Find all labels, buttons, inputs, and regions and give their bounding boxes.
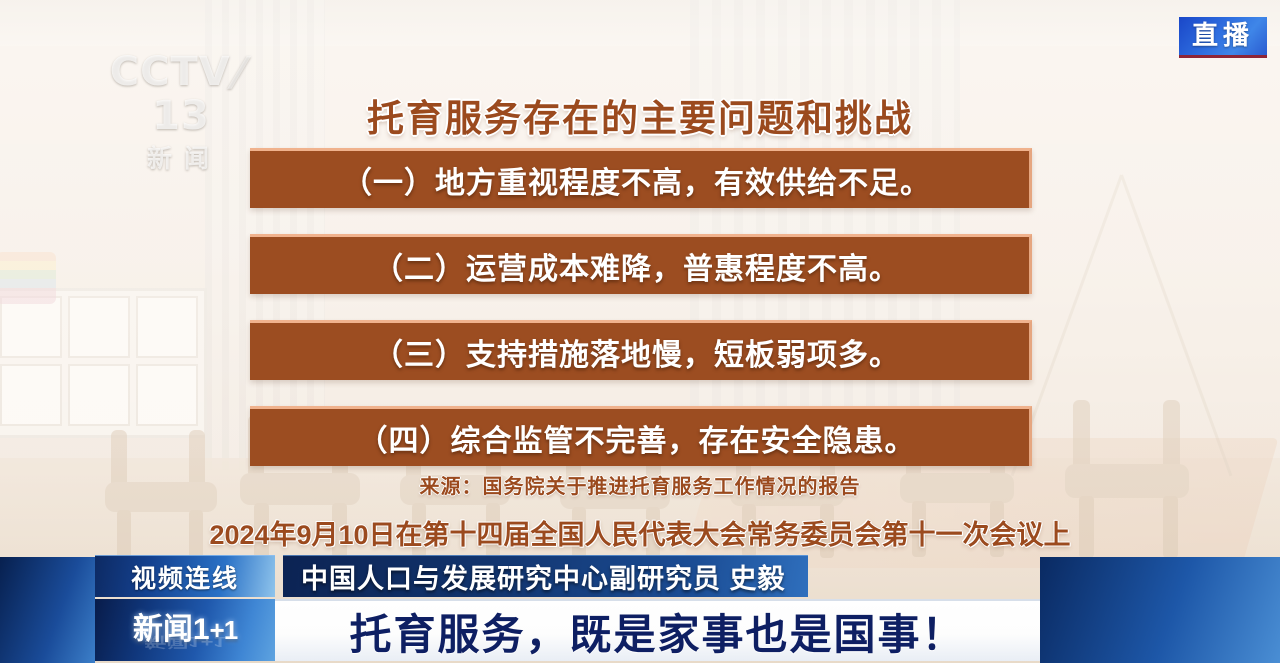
list-item: （一）地方重视程度不高，有效供给不足。: [250, 148, 1032, 208]
lower-third-left-strip: [0, 557, 95, 663]
list-item: （二）运营成本难降，普惠程度不高。: [250, 234, 1032, 294]
list-item-label: （三）支持措施落地慢，短板弱项多。: [250, 330, 1029, 374]
tv-broadcast-frame: CCTV/13 新闻 直播 托育服务存在的主要问题和挑战 （一）地方重视程度不高…: [0, 0, 1280, 663]
program-logo: 新闻1+1 新闻1+1: [95, 599, 275, 661]
live-badge: 直播: [1179, 17, 1267, 58]
lower-third-right-strip: [1040, 557, 1280, 663]
video-call-tag: 视频连线: [95, 555, 275, 597]
program-logo-reflection: 新闻1+1: [95, 633, 275, 654]
list-item-label: （四）综合监管不完善，存在安全隐患。: [250, 416, 1029, 460]
graphic-item-list: （一）地方重视程度不高，有效供给不足。 （二）运营成本难降，普惠程度不高。 （三…: [250, 148, 1032, 492]
graphic-title: 托育服务存在的主要问题和挑战: [0, 88, 1280, 142]
lower-third-guest-row: 视频连线 中国人口与发展研究中心副研究员 史毅: [95, 555, 808, 597]
graphic-meeting-line: 2024年9月10日在第十四届全国人民代表大会常务委员会第十一次会议上: [0, 513, 1280, 552]
list-item: （三）支持措施落地慢，短板弱项多。: [250, 320, 1032, 380]
guest-name-title: 中国人口与发展研究中心副研究员 史毅: [283, 555, 808, 597]
list-item-label: （一）地方重视程度不高，有效供给不足。: [250, 158, 1029, 202]
list-item-label: （二）运营成本难降，普惠程度不高。: [250, 244, 1029, 288]
topic-headline: 托育服务，既是家事也是国事！: [275, 599, 1040, 661]
lower-third-topic-row: 新闻1+1 新闻1+1 托育服务，既是家事也是国事！: [95, 599, 1040, 661]
graphic-source-line: 来源：国务院关于推进托育服务工作情况的报告: [0, 470, 1280, 499]
list-item: （四）综合监管不完善，存在安全隐患。: [250, 406, 1032, 466]
lower-third: 视频连线 中国人口与发展研究中心副研究员 史毅 新闻1+1 新闻1+1 托育服务…: [0, 555, 1280, 663]
